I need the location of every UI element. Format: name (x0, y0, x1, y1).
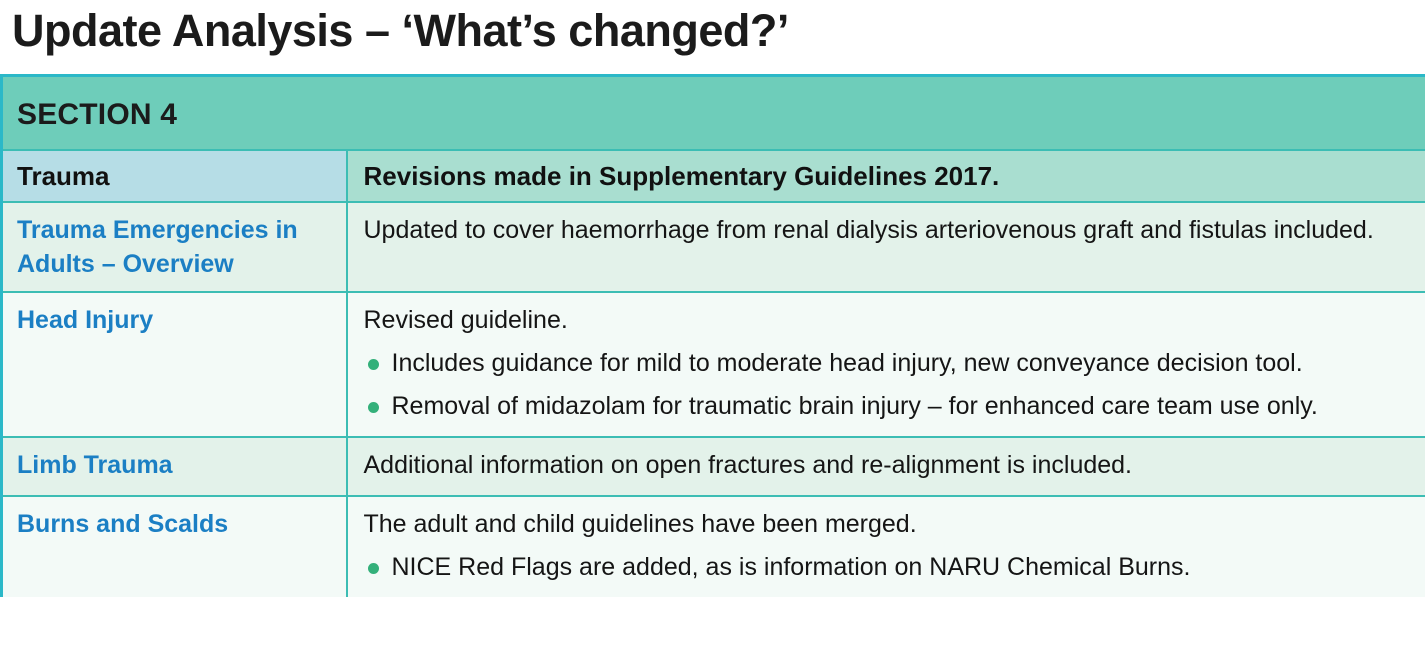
row-title-cell: Trauma Emergencies in Adults – Overview (2, 202, 347, 292)
row-body: Additional information on open fractures… (348, 438, 1425, 495)
list-item-text: Includes guidance for mild to moderate h… (392, 349, 1303, 377)
row-title-cell: Limb Trauma (2, 437, 347, 496)
bullet-dot-icon (368, 402, 379, 413)
bullet-dot-icon (368, 359, 379, 370)
row-title-limb-trauma: Limb Trauma (3, 438, 346, 492)
bullet-list: Includes guidance for mild to moderate h… (364, 346, 1411, 424)
row-title-head-injury: Head Injury (3, 293, 346, 347)
row-body: The adult and child guidelines have been… (348, 497, 1425, 597)
table-header-row: Trauma Revisions made in Supplementary G… (2, 150, 1425, 202)
row-lead-text: The adult and child guidelines have been… (364, 507, 1411, 542)
header-cell-revisions: Revisions made in Supplementary Guidelin… (347, 150, 1425, 202)
header-label-left: Trauma (3, 151, 346, 192)
section-band-cell: SECTION 4 (2, 76, 1425, 151)
bullet-list: NICE Red Flags are added, as is informat… (364, 550, 1411, 585)
page-title: Update Analysis – ‘What’s changed?’ (12, 0, 789, 72)
slide-page: Update Analysis – ‘What’s changed?’ SECT… (0, 0, 1425, 650)
row-body: Updated to cover haemorrhage from renal … (348, 203, 1425, 260)
header-label-right: Revisions made in Supplementary Guidelin… (348, 151, 1425, 192)
section-label: SECTION 4 (3, 77, 1425, 132)
list-item: Removal of midazolam for traumatic brain… (364, 389, 1411, 424)
bullet-dot-icon (368, 563, 379, 574)
row-body-cell: The adult and child guidelines have been… (347, 496, 1425, 597)
table-row: Head Injury Revised guideline. Includes … (2, 292, 1425, 437)
header-cell-trauma: Trauma (2, 150, 347, 202)
row-lead-text: Updated to cover haemorrhage from renal … (364, 213, 1411, 248)
table-row: Burns and Scalds The adult and child gui… (2, 496, 1425, 597)
row-title-cell: Head Injury (2, 292, 347, 437)
row-title-cell: Burns and Scalds (2, 496, 347, 597)
row-lead-text: Revised guideline. (364, 303, 1411, 338)
table-row: Trauma Emergencies in Adults – Overview … (2, 202, 1425, 292)
row-body-cell: Updated to cover haemorrhage from renal … (347, 202, 1425, 292)
table-row: Limb Trauma Additional information on op… (2, 437, 1425, 496)
list-item: Includes guidance for mild to moderate h… (364, 346, 1411, 381)
list-item: NICE Red Flags are added, as is informat… (364, 550, 1411, 585)
list-item-text: Removal of midazolam for traumatic brain… (392, 392, 1318, 420)
row-body-cell: Revised guideline. Includes guidance for… (347, 292, 1425, 437)
row-title-burns-and-scalds: Burns and Scalds (3, 497, 346, 551)
section-band-row: SECTION 4 (2, 76, 1425, 151)
row-body-cell: Additional information on open fractures… (347, 437, 1425, 496)
row-lead-text: Additional information on open fractures… (364, 448, 1411, 483)
row-title-trauma-emergencies: Trauma Emergencies in Adults – Overview (3, 203, 346, 291)
update-analysis-table: SECTION 4 Trauma Revisions made in Suppl… (0, 74, 1425, 597)
row-body: Revised guideline. Includes guidance for… (348, 293, 1425, 436)
list-item-text: NICE Red Flags are added, as is informat… (392, 553, 1191, 581)
